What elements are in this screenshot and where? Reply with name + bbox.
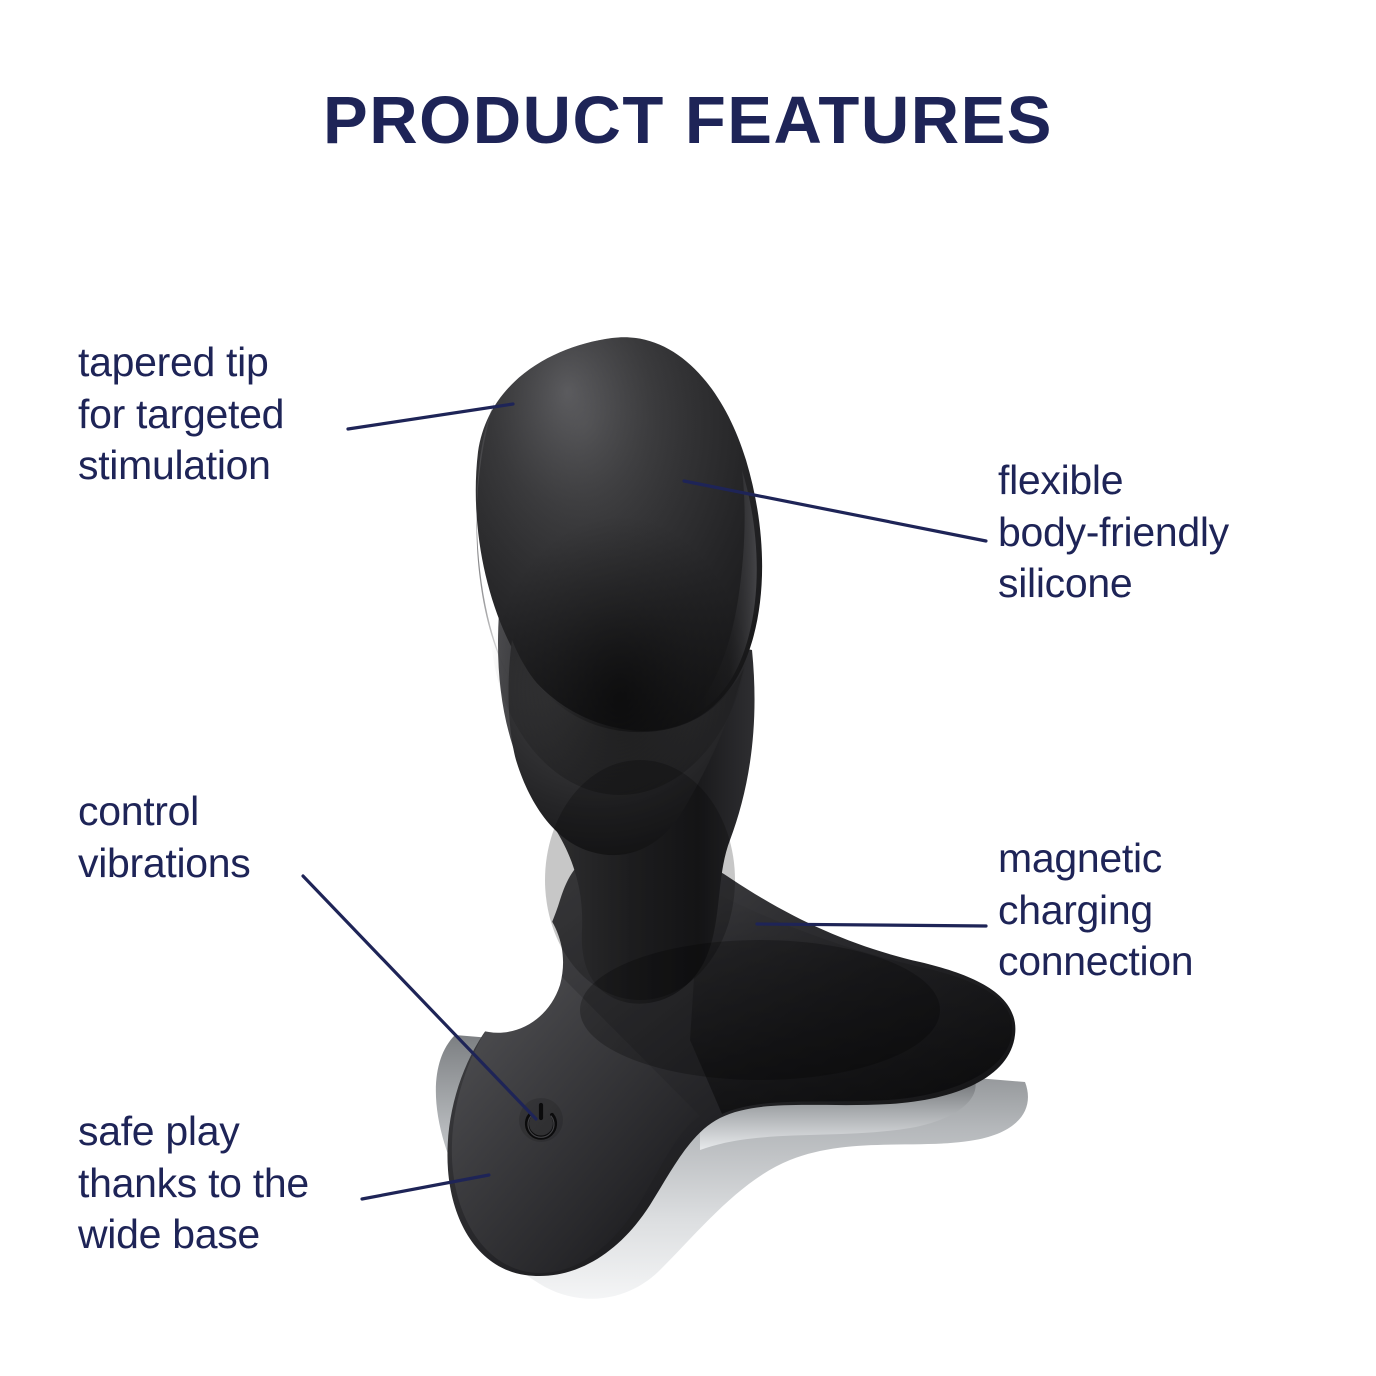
callout-tapered-tip: tapered tip for targeted stimulation bbox=[78, 337, 408, 492]
callout-flexible-silicone: flexible body-friendly silicone bbox=[998, 455, 1328, 610]
infographic-canvas: PRODUCT FEATURES bbox=[0, 0, 1376, 1376]
callout-safe-play: safe play thanks to the wide base bbox=[78, 1106, 408, 1261]
power-icon[interactable] bbox=[519, 1098, 563, 1142]
callout-control-vibrations: control vibrations bbox=[78, 786, 378, 889]
callout-magnetic-charging: magnetic charging connection bbox=[998, 833, 1298, 988]
